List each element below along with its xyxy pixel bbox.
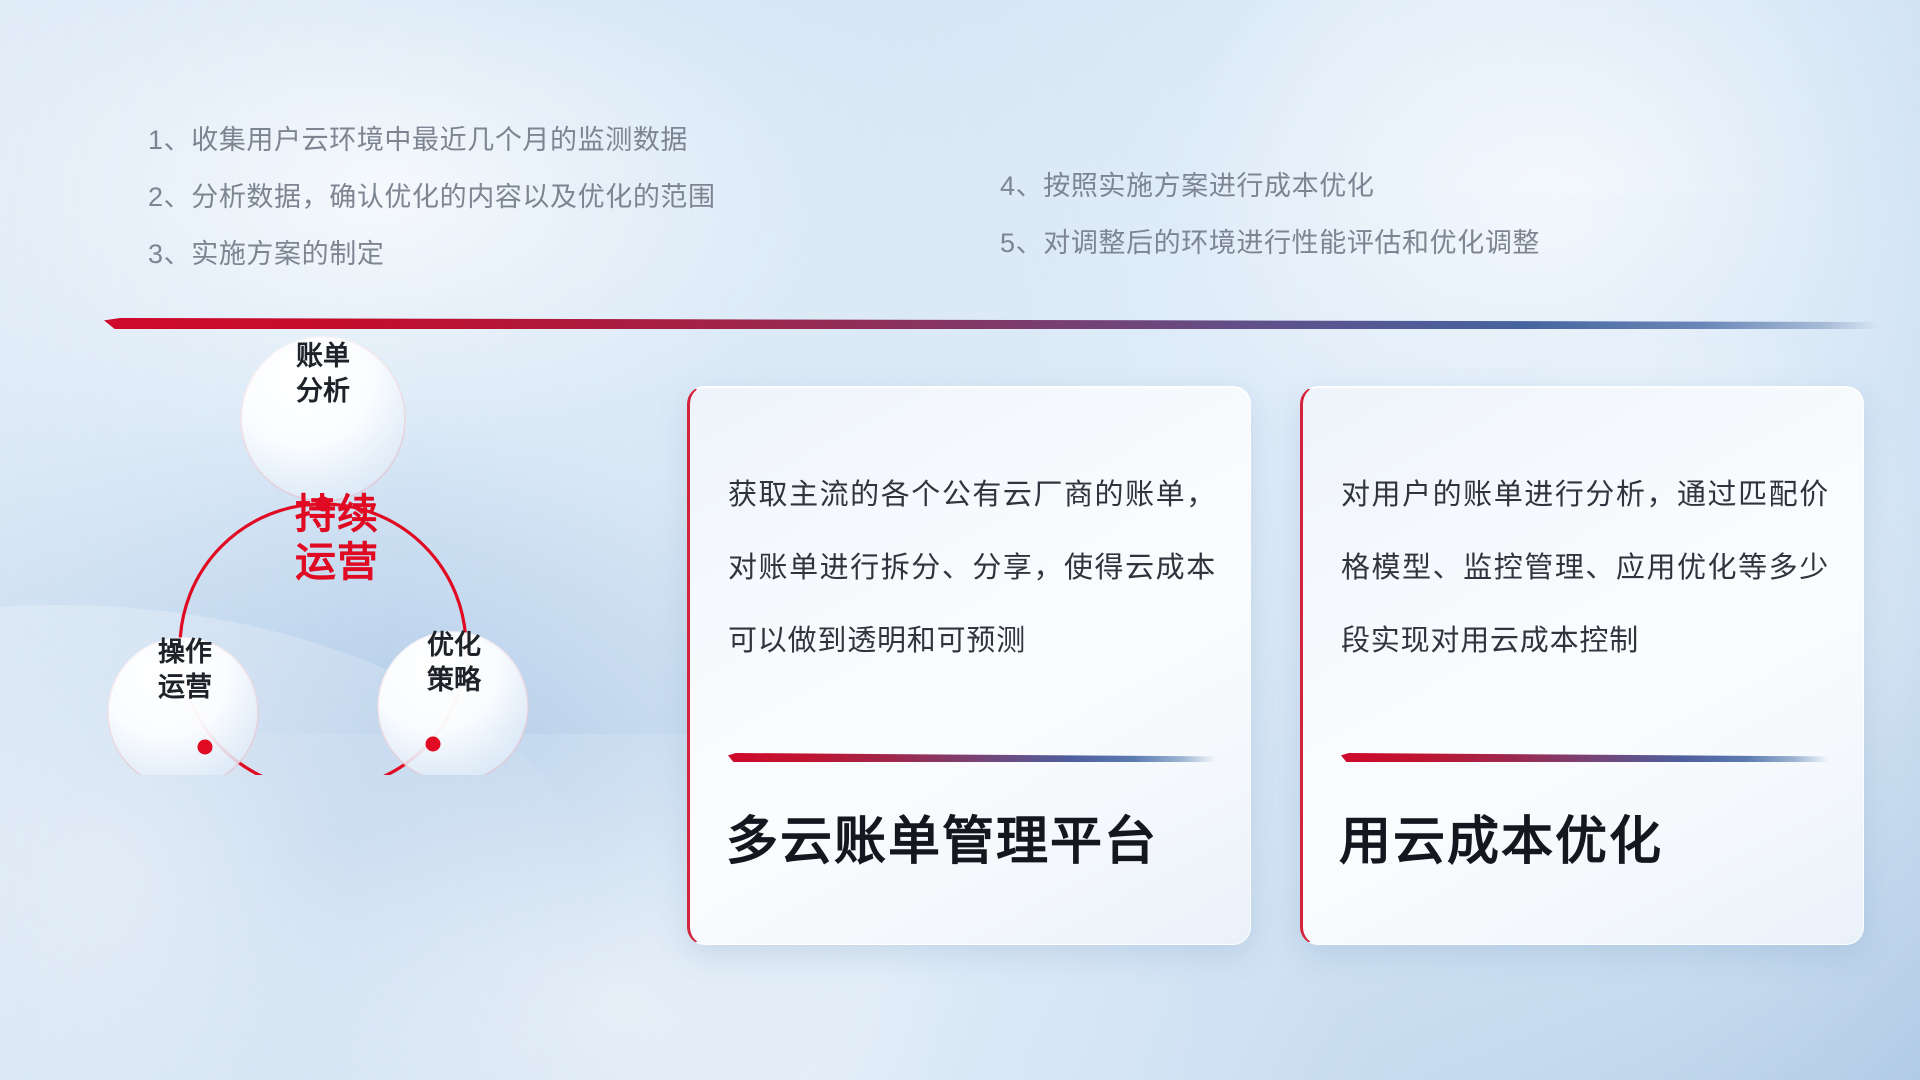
info-card-title: 用云成本优化: [1339, 799, 1663, 874]
step-item: 1、收集用户云环境中最近几个月的监测数据: [148, 112, 716, 169]
venn-node-label-bottom-left: 操作 运营: [109, 635, 261, 704]
info-card-body: 对用户的账单进行分析，通过匹配价格模型、监控管理、应用优化等多少段实现对用云成本…: [1341, 459, 1829, 678]
info-card[interactable]: 对用户的账单进行分析，通过匹配价格模型、监控管理、应用优化等多少段实现对用云成本…: [1300, 386, 1864, 945]
info-card-body: 获取主流的各个公有云厂商的账单，对账单进行拆分、分享，使得云成本可以做到透明和可…: [728, 459, 1216, 678]
step-item: 5、对调整后的环境进行性能评估和优化调整: [1000, 215, 1540, 272]
step-item: 3、实施方案的制定: [148, 226, 716, 283]
steps-right-column: 4、按照实施方案进行成本优化 5、对调整后的环境进行性能评估和优化调整: [1000, 158, 1540, 272]
info-card-title: 多云账单管理平台: [726, 799, 1158, 874]
step-item: 2、分析数据，确认优化的内容以及优化的范围: [148, 169, 716, 226]
info-card[interactable]: 获取主流的各个公有云厂商的账单，对账单进行拆分、分享，使得云成本可以做到透明和可…: [687, 386, 1251, 945]
venn-node-label-bottom-right: 优化 策略: [378, 628, 530, 697]
info-card-divider: [1341, 753, 1829, 762]
step-item: 4、按照实施方案进行成本优化: [1000, 158, 1540, 215]
steps-left-column: 1、收集用户云环境中最近几个月的监测数据 2、分析数据，确认优化的内容以及优化的…: [148, 112, 716, 283]
info-card-divider: [728, 753, 1216, 762]
venn-node-dot-bottom-right: [426, 737, 441, 752]
venn-center-label: 持续 运营: [247, 490, 427, 587]
venn-node-label-top: 账单 分析: [245, 339, 401, 408]
steps-section: 1、收集用户云环境中最近几个月的监测数据 2、分析数据，确认优化的内容以及优化的…: [0, 0, 1920, 300]
venn-diagram: 账单 分析 操作 运营 优化 策略 持续 运营: [95, 295, 565, 775]
venn-node-dot-bottom-left: [198, 740, 213, 755]
